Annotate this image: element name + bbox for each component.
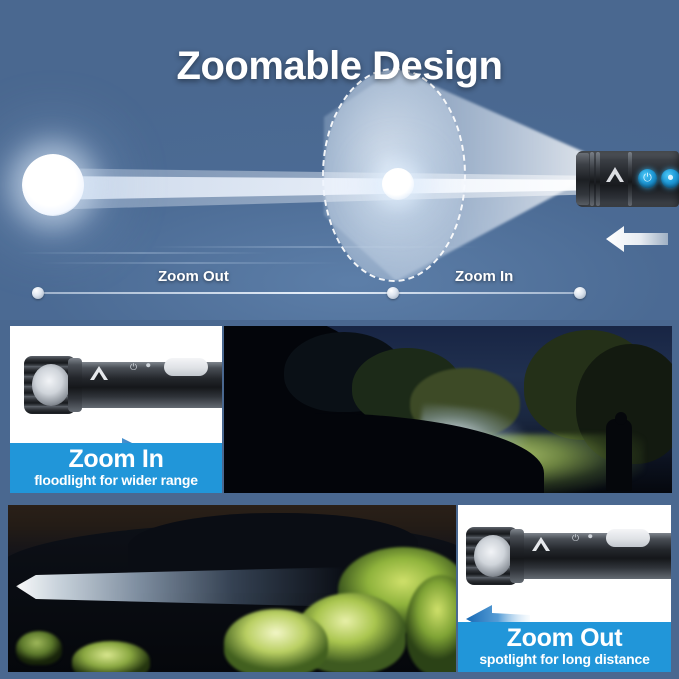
spotlight-beam [10,150,620,226]
power-button-icon: ⏻ [130,362,137,373]
slider-dot-middle[interactable] [387,287,399,299]
mode-button-icon[interactable]: ⏺ [661,169,679,188]
zoom-slider[interactable]: Zoom Out Zoom In [0,268,679,308]
flashlight-photo-zoom-out: ⏻ ⏺ [460,513,671,603]
flashlight-ring [596,152,600,206]
zoom-out-light-orb [22,154,84,216]
zoom-out-card: ⏻ ⏺ Zoom Out spotlight for long distance [458,505,671,672]
power-button-icon[interactable]: ⏻ [638,169,657,188]
flashlight-head [576,153,589,205]
slider-dot-right[interactable] [574,287,586,299]
triangle-logo-inner-icon [610,174,620,182]
flashlight-product: ⏻ ⏺ [576,151,679,207]
slider-label-zoom-in: Zoom In [455,268,513,285]
slider-label-zoom-out: Zoom Out [158,268,229,285]
person-head-silhouette [615,412,627,425]
flashlight-neck [510,529,524,583]
slider-dot-left[interactable] [32,287,44,299]
slider-track [38,292,581,294]
flashlight-switch[interactable] [606,529,650,547]
zoom-in-subtitle: floodlight for wider range [10,472,222,488]
zoom-in-light-orb [382,168,414,200]
mode-button-icon: ⏺ [588,531,593,542]
lit-foliage [224,609,328,672]
power-button-icon: ⏻ [572,533,579,544]
zoom-in-card: ⏻ ⏺ Zoom In floodlight for wider range [10,326,222,493]
flashlight-lens [32,364,70,406]
light-streak [40,262,340,264]
spotlight-night-photo [8,505,456,672]
lit-foliage-small [16,631,62,665]
triangle-logo-inner-icon [536,543,546,551]
arrow-left-icon [604,224,670,254]
flashlight-switch[interactable] [164,358,208,376]
hero-section: Zoomable Design [0,0,679,320]
zoom-out-subtitle: spotlight for long distance [458,651,671,667]
product-infographic: Zoomable Design [0,0,679,679]
light-streak [18,252,268,254]
zoom-in-title: Zoom In [10,446,222,472]
mode-button-icon: ⏺ [146,360,151,371]
flashlight-ring [628,152,632,206]
triangle-logo-inner-icon [94,372,104,380]
floodlight-night-photo [224,326,672,493]
zoom-in-caption: Zoom In floodlight for wider range [10,443,222,493]
zoom-out-caption: Zoom Out spotlight for long distance [458,622,671,672]
zoom-out-title: Zoom Out [458,625,671,651]
flashlight-ring [590,152,594,206]
flashlight-photo-zoom-in: ⏻ ⏺ [18,344,222,434]
page-title: Zoomable Design [0,41,679,91]
flashlight-lens [474,535,512,577]
person-silhouette [606,419,632,491]
flashlight-neck [68,358,82,412]
